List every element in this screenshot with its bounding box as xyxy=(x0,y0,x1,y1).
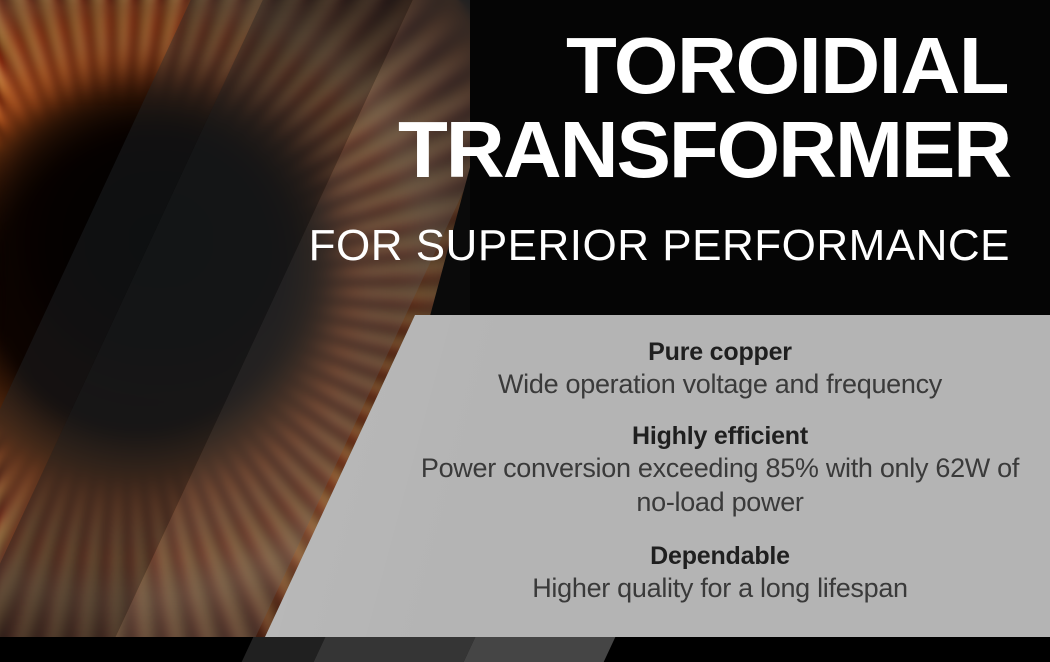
feature-description: Higher quality for a long lifespan xyxy=(420,571,1020,605)
feature-item-dependable: Dependable Higher quality for a long lif… xyxy=(420,541,1020,605)
feature-description: Power conversion exceeding 85% with only… xyxy=(420,451,1020,519)
spacer-top xyxy=(420,318,1020,337)
feature-item-highly-efficient: Highly efficient Power conversion exceed… xyxy=(420,421,1020,519)
bottom-bar xyxy=(0,637,1050,662)
spacer-between-1-2 xyxy=(420,401,1020,421)
headline-line-2: TRANSFORMER xyxy=(398,110,1010,190)
spacer-between-2-3 xyxy=(420,519,1020,541)
feature-description: Wide operation voltage and frequency xyxy=(420,367,1020,401)
headline-line-1: TOROIDIAL xyxy=(566,26,1008,106)
feature-list: Pure copper Wide operation voltage and f… xyxy=(420,318,1020,605)
headline-subtitle: FOR SUPERIOR PERFORMANCE xyxy=(309,222,1010,270)
feature-title: Highly efficient xyxy=(420,421,1020,451)
feature-item-pure-copper: Pure copper Wide operation voltage and f… xyxy=(420,337,1020,401)
feature-title: Pure copper xyxy=(420,337,1020,367)
headline-group: TOROIDIAL TRANSFORMER FOR SUPERIOR PERFO… xyxy=(0,0,1050,316)
feature-title: Dependable xyxy=(420,541,1020,571)
product-feature-banner: TOROIDIAL TRANSFORMER FOR SUPERIOR PERFO… xyxy=(0,0,1050,662)
